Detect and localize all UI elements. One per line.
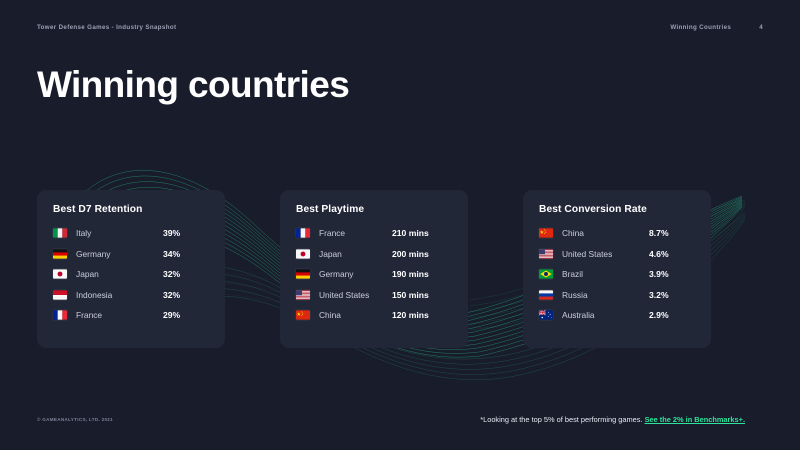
list-item: Australia 2.9% (539, 309, 695, 321)
flag-indonesia-icon (53, 290, 67, 300)
metric-value: 8.7% (649, 228, 695, 238)
metric-value: 210 mins (392, 228, 452, 238)
flag-brazil-icon (539, 269, 553, 279)
country-name: China (319, 310, 392, 320)
metric-value: 32% (163, 269, 209, 279)
country-name: Australia (562, 310, 649, 320)
metric-value: 2.9% (649, 310, 695, 320)
list-item: Indonesia 32% (53, 289, 209, 301)
card-best-playtime: Best Playtime France 210 mins Japan 200 … (280, 190, 468, 348)
flag-united-states-icon (296, 290, 310, 300)
list-item: Germany 190 mins (296, 268, 452, 280)
flag-italy-icon (53, 228, 67, 238)
footnote: *Looking at the top 5% of best performin… (480, 415, 745, 424)
metric-value: 39% (163, 228, 209, 238)
list-item: France 210 mins (296, 227, 452, 239)
header-right-group: Winning Countries 4 (670, 24, 763, 31)
card-title: Best Conversion Rate (539, 204, 695, 215)
country-name: United States (562, 249, 649, 259)
page-number: 4 (759, 24, 763, 31)
list-item: Italy 39% (53, 227, 209, 239)
footnote-text: *Looking at the top 5% of best performin… (480, 415, 644, 424)
stat-cards-container: Best D7 Retention Italy 39% Germany 34% (37, 190, 711, 348)
metric-value: 4.6% (649, 249, 695, 259)
flag-china-icon (539, 228, 553, 238)
list-item: Japan 200 mins (296, 248, 452, 260)
country-name: France (76, 310, 163, 320)
country-name: Germany (76, 249, 163, 259)
list-item: United States 4.6% (539, 248, 695, 260)
metric-value: 190 mins (392, 269, 452, 279)
country-name: Germany (319, 269, 392, 279)
page-title: Winning countries (37, 64, 349, 106)
country-name: China (562, 228, 649, 238)
list-item: China 120 mins (296, 309, 452, 321)
country-name: Russia (562, 290, 649, 300)
flag-china-icon (296, 310, 310, 320)
list-item: Brazil 3.9% (539, 268, 695, 280)
card-rows: Italy 39% Germany 34% Japan 32% (53, 227, 209, 321)
card-best-conversion-rate: Best Conversion Rate China 8.7% (523, 190, 711, 348)
flag-united-states-icon (539, 249, 553, 259)
metric-value: 34% (163, 249, 209, 259)
card-best-d7-retention: Best D7 Retention Italy 39% Germany 34% (37, 190, 225, 348)
card-rows: China 8.7% United States 4.6% (539, 227, 695, 321)
list-item: Japan 32% (53, 268, 209, 280)
flag-australia-icon (539, 310, 553, 320)
flag-france-icon (53, 310, 67, 320)
metric-value: 120 mins (392, 310, 452, 320)
metric-value: 29% (163, 310, 209, 320)
list-item: Russia 3.2% (539, 289, 695, 301)
metric-value: 200 mins (392, 249, 452, 259)
list-item: France 29% (53, 309, 209, 321)
flag-japan-icon (296, 249, 310, 259)
metric-value: 3.2% (649, 290, 695, 300)
benchmarks-link[interactable]: See the 2% in Benchmarks+. (645, 415, 745, 424)
list-item: China 8.7% (539, 227, 695, 239)
flag-france-icon (296, 228, 310, 238)
slide-root: Tower Defense Games - Industry Snapshot … (0, 0, 800, 450)
country-name: Japan (319, 249, 392, 259)
list-item: Germany 34% (53, 248, 209, 260)
country-name: Italy (76, 228, 163, 238)
flag-japan-icon (53, 269, 67, 279)
country-name: Brazil (562, 269, 649, 279)
metric-value: 32% (163, 290, 209, 300)
country-name: Japan (76, 269, 163, 279)
metric-value: 3.9% (649, 269, 695, 279)
country-name: France (319, 228, 392, 238)
flag-germany-icon (53, 249, 67, 259)
card-title: Best Playtime (296, 204, 452, 215)
country-name: United States (319, 290, 392, 300)
section-label: Winning Countries (670, 24, 731, 31)
flag-russia-icon (539, 290, 553, 300)
deck-title-label: Tower Defense Games - Industry Snapshot (37, 24, 176, 31)
country-name: Indonesia (76, 290, 163, 300)
flag-germany-icon (296, 269, 310, 279)
slide-header: Tower Defense Games - Industry Snapshot … (37, 20, 763, 34)
metric-value: 150 mins (392, 290, 452, 300)
card-title: Best D7 Retention (53, 204, 209, 215)
copyright-label: © GAMEANALYTICS, LTD. 2021 (37, 417, 113, 422)
card-rows: France 210 mins Japan 200 mins Germany 1… (296, 227, 452, 321)
list-item: United States 150 mins (296, 289, 452, 301)
